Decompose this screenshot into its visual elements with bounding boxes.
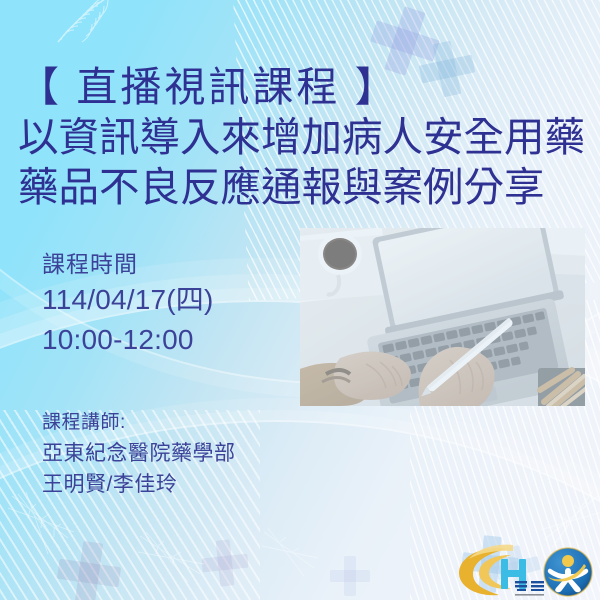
schedule-time: 10:00-12:00 [42,320,292,360]
poster-title: 【 直播視訊課程 】 以資訊導入來增加病人安全用藥 藥品不良反應通報與案例分享 [18,62,588,212]
circular-figure-emblem-logo [542,546,594,598]
schedule-date: 114/04/17(四) [42,280,292,320]
medical-cross-icon [330,556,370,596]
laptop-photo [300,228,585,406]
title-line-subject-2: 藥品不良反應通報與案例分享 [18,162,588,212]
speaker-organization: 亞東紀念醫院藥學部 [42,438,302,469]
sparkle-icon [138,530,208,590]
feather-icon [36,0,114,50]
sparkle-icon [262,528,322,582]
speaker-names: 王明賢/李佳玲 [42,469,302,500]
schedule-label: 課程時間 [42,248,292,280]
hospital-h-swoosh-logo [455,543,547,599]
title-line-broadcast: 【 直播視訊課程 】 [18,62,588,112]
sparkle-icon [8,492,94,564]
speaker-block: 課程講師: 亞東紀念醫院藥學部 王明賢/李佳玲 [42,408,302,500]
course-poster: 【 直播視訊課程 】 以資訊導入來增加病人安全用藥 藥品不良反應通報與案例分享 … [0,0,600,600]
medical-cross-icon [200,538,251,589]
speaker-label: 課程講師: [42,408,302,438]
schedule-block: 課程時間 114/04/17(四) 10:00-12:00 [42,248,292,360]
medical-cross-icon [54,538,124,600]
title-line-subject-1: 以資訊導入來增加病人安全用藥 [18,112,588,162]
